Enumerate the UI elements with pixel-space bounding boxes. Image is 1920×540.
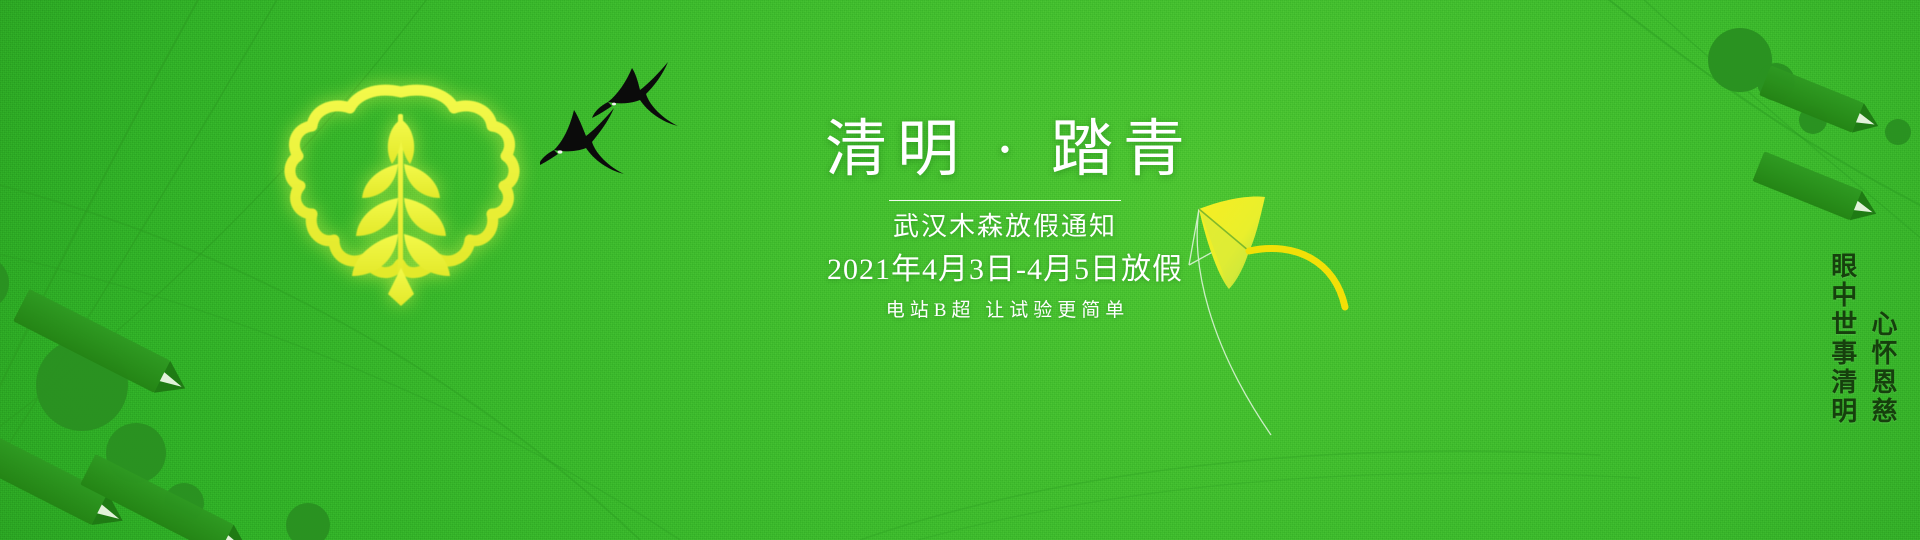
swallow-birds — [540, 58, 700, 178]
hero-subtitle: 武汉木森放假通知 — [735, 210, 1275, 244]
hero-date-range: 2021年4月3日-4月5日放假 — [735, 250, 1275, 289]
page-title: 清明 · 踏青 — [735, 118, 1275, 184]
hero-tagline: 电站B超 让试验更简单 — [735, 299, 1275, 324]
plant-leaf-emblem — [276, 68, 526, 324]
title-divider — [889, 200, 1121, 202]
couplet-column-left: 眼中世事清明 — [1826, 252, 1858, 426]
qingming-banner: 清明 · 踏青 武汉木森放假通知 2021年4月3日-4月5日放假 电站B超 让… — [0, 0, 1920, 540]
couplet-column-right: 心怀恩慈 — [1866, 310, 1898, 426]
bamboo-leaf-bars-top-right — [1680, 0, 1920, 192]
vertical-couplet: 眼中世事清明 心怀恩慈 — [1826, 252, 1898, 426]
hero-text-block: 清明 · 踏青 武汉木森放假通知 2021年4月3日-4月5日放假 电站B超 让… — [735, 118, 1275, 324]
